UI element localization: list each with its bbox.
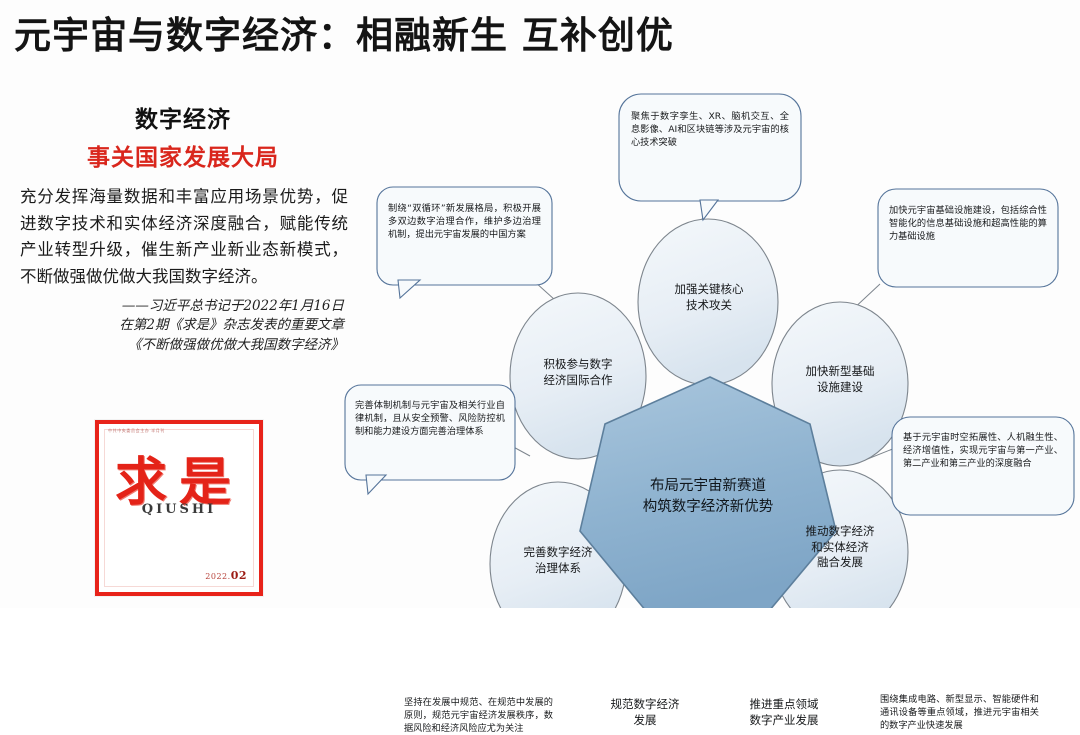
node-key-industry-line-2: 数字产业发展	[722, 713, 846, 729]
magazine-issue-prefix: 2022.	[205, 572, 230, 581]
callout-text-key-industry: 围绕集成电路、新型显示、智能硬件和通讯设备等重点领域，推进元宇宙相关的数字产业快…	[880, 693, 1039, 732]
callout-intl-coop[interactable]	[377, 187, 552, 285]
left-heading-black: 数字经济	[8, 100, 358, 134]
node-label-key-industry: 推进重点领域 数字产业发展	[722, 697, 846, 728]
callout-text-regulate-dev: 坚持在发展中规范、在规范中发展的原则，规范元宇宙经济发展秩序，数据风险和经济风险…	[404, 696, 553, 735]
citation-line-2: 在第2期《求是》杂志发表的重要文章	[8, 316, 344, 336]
qiushi-magazine-cover: 中共中央委员会主办 半月刊 求是 QIUSHI 2022.02	[95, 420, 263, 596]
callout-core-tech[interactable]	[619, 94, 801, 201]
callout-integrate-real[interactable]	[892, 417, 1074, 515]
diagram-canvas	[340, 84, 1080, 608]
left-body-text: 充分发挥海量数据和丰富应用场景优势，促进数字技术和实体经济深度融合，赋能传统产业…	[8, 184, 358, 291]
magazine-issue-number: 02	[231, 569, 247, 582]
node-label-regulate-dev: 规范数字经济 发展	[583, 697, 707, 728]
callout-new-infra[interactable]	[878, 189, 1058, 287]
citation-line-1: ——习近平总书记于2022年1月16日	[8, 297, 344, 317]
magazine-issue: 2022.02	[205, 569, 247, 582]
node-regulate-dev-line-1: 规范数字经济	[583, 697, 707, 713]
slide-canvas: 元宇宙与数字经济：相融新生 互补创优 数字经济 事关国家发展大局 充分发挥海量数…	[0, 0, 1080, 608]
callout-governance[interactable]	[345, 385, 515, 480]
node-regulate-dev-line-2: 发展	[583, 713, 707, 729]
node-core-tech[interactable]	[638, 219, 778, 385]
metaverse-strategy-diagram: 加强关键核心 技术攻关 加快新型基础 设施建设 推动数字经济 和实体经济 融合发…	[340, 84, 1080, 608]
left-citation: ——习近平总书记于2022年1月16日 在第2期《求是》杂志发表的重要文章 《不…	[8, 297, 358, 356]
node-key-industry-line-1: 推进重点领域	[722, 697, 846, 713]
magazine-title-en: QIUSHI	[99, 502, 259, 517]
left-heading-red: 事关国家发展大局	[8, 138, 358, 172]
page-title: 元宇宙与数字经济：相融新生 互补创优	[14, 5, 674, 59]
citation-line-3: 《不断做强做优做大我国数字经济》	[8, 336, 344, 356]
magazine-masthead-line: 中共中央委员会主办 半月刊	[108, 428, 165, 434]
left-text-panel: 数字经济 事关国家发展大局 充分发挥海量数据和丰富应用场景优势，促进数字技术和实…	[8, 100, 358, 356]
